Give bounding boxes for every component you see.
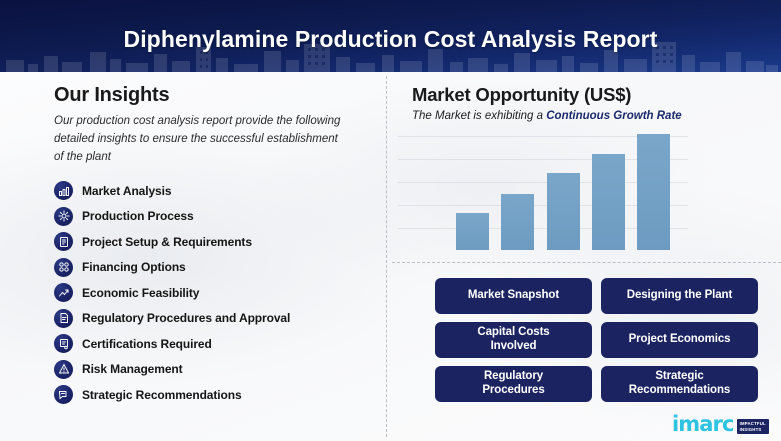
list-item[interactable]: Regulatory Procedures and Approval: [54, 306, 376, 331]
page-header: Diphenylamine Production Cost Analysis R…: [0, 0, 781, 72]
cta-button-project-economics[interactable]: Project Economics: [601, 322, 758, 358]
chart-bar: [456, 213, 489, 250]
economic-feasibility-icon: [54, 283, 73, 302]
page-title: Diphenylamine Production Cost Analysis R…: [0, 26, 781, 53]
cta-button-grid: Market Snapshot Designing the Plant Capi…: [435, 278, 758, 402]
insights-heading: Our Insights: [54, 84, 376, 107]
list-item[interactable]: Project Setup & Requirements: [54, 229, 376, 254]
horizontal-divider: [392, 262, 781, 263]
vertical-divider: [386, 76, 387, 437]
market-opportunity-heading: Market Opportunity (US$): [412, 84, 772, 106]
chart-bar: [547, 173, 580, 250]
project-setup-icon: [54, 232, 73, 251]
list-item-label: Strategic Recommendations: [82, 388, 242, 402]
list-item[interactable]: Production Process: [54, 204, 376, 229]
cta-button-market-snapshot[interactable]: Market Snapshot: [435, 278, 592, 314]
list-item[interactable]: Market Analysis: [54, 178, 376, 203]
imarc-logo: imarc IMPACTFUL INSIGHTS: [672, 409, 772, 435]
list-item-label: Economic Feasibility: [82, 286, 199, 300]
insights-panel: Our Insights Our production cost analysi…: [54, 84, 376, 408]
list-item-label: Financing Options: [82, 260, 186, 274]
chart-bar: [592, 154, 625, 250]
list-item-label: Regulatory Procedures and Approval: [82, 311, 290, 325]
insights-subtitle: Our production cost analysis report prov…: [54, 113, 344, 166]
list-item[interactable]: Risk Management: [54, 357, 376, 382]
chart-bar: [501, 194, 534, 250]
market-opportunity-bar-chart: [398, 134, 688, 250]
production-process-icon: [54, 207, 73, 226]
report-infographic: Diphenylamine Production Cost Analysis R…: [0, 0, 781, 441]
list-item-label: Market Analysis: [82, 184, 171, 198]
certifications-icon: [54, 334, 73, 353]
market-analysis-icon: [54, 181, 73, 200]
market-opportunity-panel: Market Opportunity (US$) The Market is e…: [412, 84, 772, 122]
financing-options-icon: [54, 258, 73, 277]
list-item-label: Project Setup & Requirements: [82, 235, 252, 249]
list-item[interactable]: Strategic Recommendations: [54, 382, 376, 407]
market-opportunity-subtitle: The Market is exhibiting a Continuous Gr…: [412, 110, 772, 122]
list-item[interactable]: Financing Options: [54, 255, 376, 280]
cta-button-regulatory-procedures[interactable]: Regulatory Procedures: [435, 366, 592, 402]
insights-list: Market Analysis Production Process Proje…: [54, 178, 376, 407]
list-item-label: Production Process: [82, 209, 194, 223]
cta-button-strategic-recommendations[interactable]: Strategic Recommendations: [601, 366, 758, 402]
imarc-logo-wordmark: imarc: [672, 414, 734, 435]
strategic-recommendations-icon: [54, 385, 73, 404]
list-item-label: Risk Management: [82, 362, 183, 376]
regulatory-procedures-icon: [54, 309, 73, 328]
risk-management-icon: [54, 360, 73, 379]
list-item[interactable]: Economic Feasibility: [54, 280, 376, 305]
subtitle-accent-text: Continuous Growth Rate: [546, 110, 681, 122]
chart-bar: [637, 134, 670, 250]
list-item-label: Certifications Required: [82, 337, 212, 351]
subtitle-plain-text: The Market is exhibiting a: [412, 110, 546, 122]
chart-bars: [456, 134, 670, 250]
cta-button-designing-the-plant[interactable]: Designing the Plant: [601, 278, 758, 314]
cta-button-capital-costs-involved[interactable]: Capital Costs Involved: [435, 322, 592, 358]
list-item[interactable]: Certifications Required: [54, 331, 376, 356]
imarc-logo-tagline: IMPACTFUL INSIGHTS: [737, 419, 769, 434]
